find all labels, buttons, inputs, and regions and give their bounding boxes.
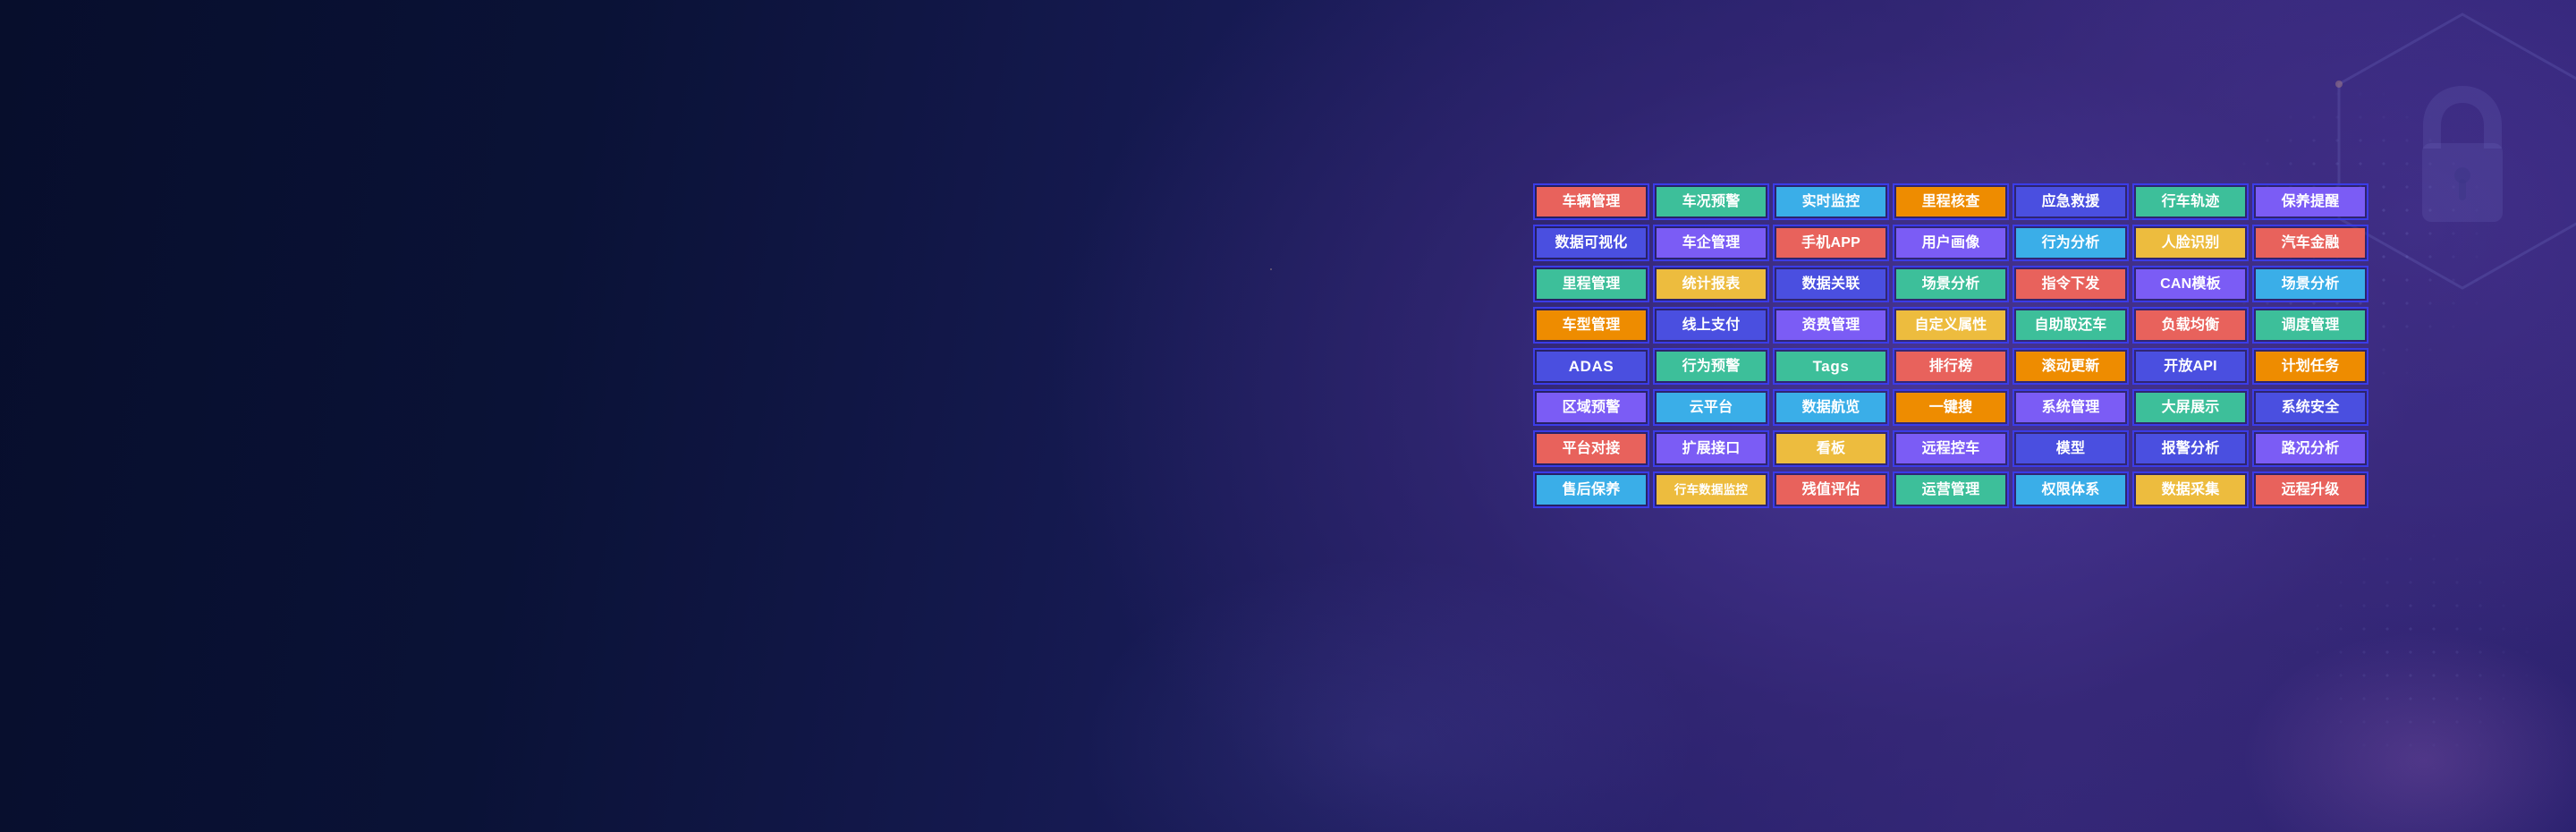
tile-face: 残值评估 xyxy=(1776,475,1885,505)
tile-label: 数据关联 xyxy=(1802,277,1860,292)
tile-face: 数据航览 xyxy=(1776,393,1885,422)
feature-tile[interactable]: 车辆管理 xyxy=(1533,183,1649,220)
feature-tile[interactable]: 场景分析 xyxy=(2252,266,2368,302)
feature-tile[interactable]: 模型 xyxy=(2012,430,2129,467)
feature-tile[interactable]: 开放API xyxy=(2132,348,2249,385)
tile-face: 人脸识别 xyxy=(2136,228,2245,258)
tile-row: 平台对接扩展接口看板远程控车模型报警分析路况分析 xyxy=(1533,430,2372,467)
tile-label: 人脸识别 xyxy=(2162,236,2220,250)
tile-face: 保养提醒 xyxy=(2256,187,2365,216)
feature-tile[interactable]: 滚动更新 xyxy=(2012,348,2129,385)
tile-face: 一键搜 xyxy=(1896,393,2005,422)
feature-tile[interactable]: 实时监控 xyxy=(1773,183,1889,220)
tile-face: 云平台 xyxy=(1657,393,1766,422)
feature-tile[interactable]: 平台对接 xyxy=(1533,430,1649,467)
tile-face: 大屏展示 xyxy=(2136,393,2245,422)
feature-tile[interactable]: 报警分析 xyxy=(2132,430,2249,467)
tile-label: 系统管理 xyxy=(2042,401,2100,415)
tile-label: 路况分析 xyxy=(2282,442,2340,456)
tile-face: 汽车金融 xyxy=(2256,228,2365,258)
tile-face: 看板 xyxy=(1776,434,1885,463)
tile-label: 云平台 xyxy=(1690,401,1733,415)
feature-tile[interactable]: 行车轨迹 xyxy=(2132,183,2249,220)
tile-face: 场景分析 xyxy=(1896,269,2005,299)
tile-label: Tags xyxy=(1813,359,1850,374)
tile-label: 自定义属性 xyxy=(1914,318,1987,333)
feature-tile[interactable]: 自助取还车 xyxy=(2012,307,2129,344)
tile-face: 自助取还车 xyxy=(2016,310,2125,340)
feature-tile[interactable]: CAN模板 xyxy=(2132,266,2249,302)
feature-tile[interactable]: 云平台 xyxy=(1653,389,1769,426)
feature-tile[interactable]: 调度管理 xyxy=(2252,307,2368,344)
tile-row: 车型管理线上支付资费管理自定义属性自助取还车负载均衡调度管理 xyxy=(1533,307,2372,344)
feature-tile[interactable]: 售后保养 xyxy=(1533,471,1649,508)
tile-face: 系统安全 xyxy=(2256,393,2365,422)
feature-tile[interactable]: 统计报表 xyxy=(1653,266,1769,302)
tile-row: 数据可视化车企管理手机APP用户画像行为分析人脸识别汽车金融 xyxy=(1533,225,2372,261)
tile-label: 看板 xyxy=(1817,442,1845,456)
tile-label: 车辆管理 xyxy=(1563,195,1621,209)
tile-label: 计划任务 xyxy=(2282,360,2340,374)
tile-face: 调度管理 xyxy=(2256,310,2365,340)
tile-face: 系统管理 xyxy=(2016,393,2125,422)
feature-tile[interactable]: 远程升级 xyxy=(2252,471,2368,508)
feature-tile-grid: 车辆管理车况预警实时监控里程核查应急救援行车轨迹保养提醒数据可视化车企管理手机A… xyxy=(1533,183,2372,508)
feature-tile[interactable]: 指令下发 xyxy=(2012,266,2129,302)
tile-face: 行车数据监控 xyxy=(1657,475,1766,505)
tile-label: 一键搜 xyxy=(1929,401,1973,415)
tile-label: 行车轨迹 xyxy=(2162,195,2220,209)
feature-tile[interactable]: 行为预警 xyxy=(1653,348,1769,385)
tile-label: 远程控车 xyxy=(1922,442,1980,456)
tile-face: 统计报表 xyxy=(1657,269,1766,299)
tile-row: ADAS行为预警Tags排行榜滚动更新开放API计划任务 xyxy=(1533,348,2372,385)
tile-label: 保养提醒 xyxy=(2282,195,2340,209)
tile-label: 手机APP xyxy=(1801,236,1860,250)
feature-tile[interactable]: 线上支付 xyxy=(1653,307,1769,344)
tile-label: 指令下发 xyxy=(2042,277,2100,292)
tile-label: CAN模板 xyxy=(2160,277,2221,292)
tile-face: 车况预警 xyxy=(1657,187,1766,216)
feature-tile[interactable]: 车况预警 xyxy=(1653,183,1769,220)
tile-label: 区域预警 xyxy=(1563,401,1621,415)
tile-row: 售后保养行车数据监控残值评估运营管理权限体系数据采集远程升级 xyxy=(1533,471,2372,508)
feature-tile[interactable]: ADAS xyxy=(1533,348,1649,385)
tile-face: 报警分析 xyxy=(2136,434,2245,463)
tile-face: 排行榜 xyxy=(1896,352,2005,381)
feature-tile[interactable]: 系统安全 xyxy=(2252,389,2368,426)
feature-tile[interactable]: 用户画像 xyxy=(1893,225,2009,261)
tile-label: 残值评估 xyxy=(1802,483,1860,497)
tile-label: 线上支付 xyxy=(1682,318,1741,333)
feature-tile[interactable]: 人脸识别 xyxy=(2132,225,2249,261)
feature-tile[interactable]: 资费管理 xyxy=(1773,307,1889,344)
tile-face: 平台对接 xyxy=(1537,434,1646,463)
feature-tile[interactable]: 负载均衡 xyxy=(2132,307,2249,344)
tile-face: 行车轨迹 xyxy=(2136,187,2245,216)
tile-row: 里程管理统计报表数据关联场景分析指令下发CAN模板场景分析 xyxy=(1533,266,2372,302)
tile-face: 用户画像 xyxy=(1896,228,2005,258)
tile-face: 模型 xyxy=(2016,434,2125,463)
tile-face: 区域预警 xyxy=(1537,393,1646,422)
tile-label: 车企管理 xyxy=(1682,236,1741,250)
feature-tile[interactable]: 保养提醒 xyxy=(2252,183,2368,220)
tile-label: ADAS xyxy=(1569,359,1614,374)
feature-tile[interactable]: 排行榜 xyxy=(1893,348,2009,385)
tile-face: 数据关联 xyxy=(1776,269,1885,299)
tile-label: 运营管理 xyxy=(1922,483,1980,497)
feature-tile[interactable]: 权限体系 xyxy=(2012,471,2129,508)
tile-label: 开放API xyxy=(2164,360,2217,374)
tile-label: 模型 xyxy=(2056,442,2085,456)
tile-face: 计划任务 xyxy=(2256,352,2365,381)
tile-face: 远程控车 xyxy=(1896,434,2005,463)
tile-face: 开放API xyxy=(2136,352,2245,381)
feature-tile[interactable]: 数据采集 xyxy=(2132,471,2249,508)
feature-tile[interactable]: Tags xyxy=(1773,348,1889,385)
feature-tile[interactable]: 一键搜 xyxy=(1893,389,2009,426)
tile-face: 滚动更新 xyxy=(2016,352,2125,381)
tile-label: 行为预警 xyxy=(1682,360,1741,374)
feature-tile[interactable]: 车型管理 xyxy=(1533,307,1649,344)
tile-label: 大屏展示 xyxy=(2162,401,2220,415)
tile-face: 资费管理 xyxy=(1776,310,1885,340)
feature-tile[interactable]: 系统管理 xyxy=(2012,389,2129,426)
tile-face: 自定义属性 xyxy=(1896,310,2005,340)
spark-dot xyxy=(1270,268,1272,270)
screen-root: 车辆管理车况预警实时监控里程核查应急救援行车轨迹保养提醒数据可视化车企管理手机A… xyxy=(0,0,2576,832)
tile-label: 自助取还车 xyxy=(2034,318,2106,333)
tile-label: 远程升级 xyxy=(2282,483,2340,497)
tile-label: 汽车金融 xyxy=(2282,236,2340,250)
tile-label: 数据航览 xyxy=(1802,401,1860,415)
tile-face: 扩展接口 xyxy=(1657,434,1766,463)
feature-tile[interactable]: 应急救援 xyxy=(2012,183,2129,220)
feature-tile[interactable]: 残值评估 xyxy=(1773,471,1889,508)
tile-row: 区域预警云平台数据航览一键搜系统管理大屏展示系统安全 xyxy=(1533,389,2372,426)
tile-label: 行车数据监控 xyxy=(1674,484,1748,497)
tile-row: 车辆管理车况预警实时监控里程核查应急救援行车轨迹保养提醒 xyxy=(1533,183,2372,220)
tile-face: 路况分析 xyxy=(2256,434,2365,463)
tile-face: 运营管理 xyxy=(1896,475,2005,505)
feature-tile[interactable]: 区域预警 xyxy=(1533,389,1649,426)
tile-face: CAN模板 xyxy=(2136,269,2245,299)
tile-label: 系统安全 xyxy=(2282,401,2340,415)
tile-face: 权限体系 xyxy=(2016,475,2125,505)
tile-label: 场景分析 xyxy=(1922,277,1980,292)
feature-tile[interactable]: 远程控车 xyxy=(1893,430,2009,467)
feature-tile[interactable]: 场景分析 xyxy=(1893,266,2009,302)
feature-tile[interactable]: 汽车金融 xyxy=(2252,225,2368,261)
tile-face: 场景分析 xyxy=(2256,269,2365,299)
feature-tile[interactable]: 里程管理 xyxy=(1533,266,1649,302)
feature-tile[interactable]: 车企管理 xyxy=(1653,225,1769,261)
tile-label: 平台对接 xyxy=(1563,442,1621,456)
tile-face: 指令下发 xyxy=(2016,269,2125,299)
tile-label: 应急救援 xyxy=(2042,195,2100,209)
tile-face: 行为预警 xyxy=(1657,352,1766,381)
tile-label: 用户画像 xyxy=(1922,236,1980,250)
tile-label: 报警分析 xyxy=(2162,442,2220,456)
tile-label: 权限体系 xyxy=(2042,483,2100,497)
feature-tile[interactable]: 大屏展示 xyxy=(2132,389,2249,426)
tile-face: 实时监控 xyxy=(1776,187,1885,216)
tile-label: 扩展接口 xyxy=(1682,442,1741,456)
tile-label: 统计报表 xyxy=(1682,277,1741,292)
feature-tile[interactable]: 行车数据监控 xyxy=(1653,471,1769,508)
tile-label: 资费管理 xyxy=(1802,318,1860,333)
tile-label: 行为分析 xyxy=(2042,236,2100,250)
tile-label: 数据可视化 xyxy=(1555,236,1627,250)
ambient-glow-bottom-right xyxy=(2236,626,2576,832)
tile-face: ADAS xyxy=(1537,352,1646,381)
tile-face: 手机APP xyxy=(1776,228,1885,258)
tile-label: 里程核查 xyxy=(1922,195,1980,209)
feature-tile[interactable]: 路况分析 xyxy=(2252,430,2368,467)
tile-face: 线上支付 xyxy=(1657,310,1766,340)
feature-tile[interactable]: 里程核查 xyxy=(1893,183,2009,220)
tile-face: 远程升级 xyxy=(2256,475,2365,505)
tile-label: 车型管理 xyxy=(1563,318,1621,333)
tile-label: 滚动更新 xyxy=(2042,360,2100,374)
feature-tile[interactable]: 扩展接口 xyxy=(1653,430,1769,467)
tile-face: 车辆管理 xyxy=(1537,187,1646,216)
tile-face: 里程管理 xyxy=(1537,269,1646,299)
tile-face: 售后保养 xyxy=(1537,475,1646,505)
tile-face: 数据采集 xyxy=(2136,475,2245,505)
feature-tile[interactable]: 数据关联 xyxy=(1773,266,1889,302)
feature-tile[interactable]: 数据可视化 xyxy=(1533,225,1649,261)
tile-face: 里程核查 xyxy=(1896,187,2005,216)
tile-label: 数据采集 xyxy=(2162,483,2220,497)
feature-tile[interactable]: 手机APP xyxy=(1773,225,1889,261)
tile-face: Tags xyxy=(1776,352,1885,381)
ambient-glow-left xyxy=(1073,555,1699,832)
feature-tile[interactable]: 数据航览 xyxy=(1773,389,1889,426)
tile-label: 售后保养 xyxy=(1563,483,1621,497)
tile-face: 数据可视化 xyxy=(1537,228,1646,258)
tile-face: 应急救援 xyxy=(2016,187,2125,216)
feature-tile[interactable]: 运营管理 xyxy=(1893,471,2009,508)
feature-tile[interactable]: 看板 xyxy=(1773,430,1889,467)
tile-label: 里程管理 xyxy=(1563,277,1621,292)
tile-label: 场景分析 xyxy=(2282,277,2340,292)
tile-face: 车型管理 xyxy=(1537,310,1646,340)
tile-face: 负载均衡 xyxy=(2136,310,2245,340)
tile-face: 行为分析 xyxy=(2016,228,2125,258)
feature-tile[interactable]: 行为分析 xyxy=(2012,225,2129,261)
tile-face: 车企管理 xyxy=(1657,228,1766,258)
tile-label: 车况预警 xyxy=(1682,195,1741,209)
tile-label: 调度管理 xyxy=(2282,318,2340,333)
tile-label: 负载均衡 xyxy=(2162,318,2220,333)
feature-tile[interactable]: 自定义属性 xyxy=(1893,307,2009,344)
tile-label: 实时监控 xyxy=(1802,195,1860,209)
dot-grid-pattern-bottom xyxy=(2236,501,2576,832)
tile-label: 排行榜 xyxy=(1929,360,1973,374)
feature-tile[interactable]: 计划任务 xyxy=(2252,348,2368,385)
